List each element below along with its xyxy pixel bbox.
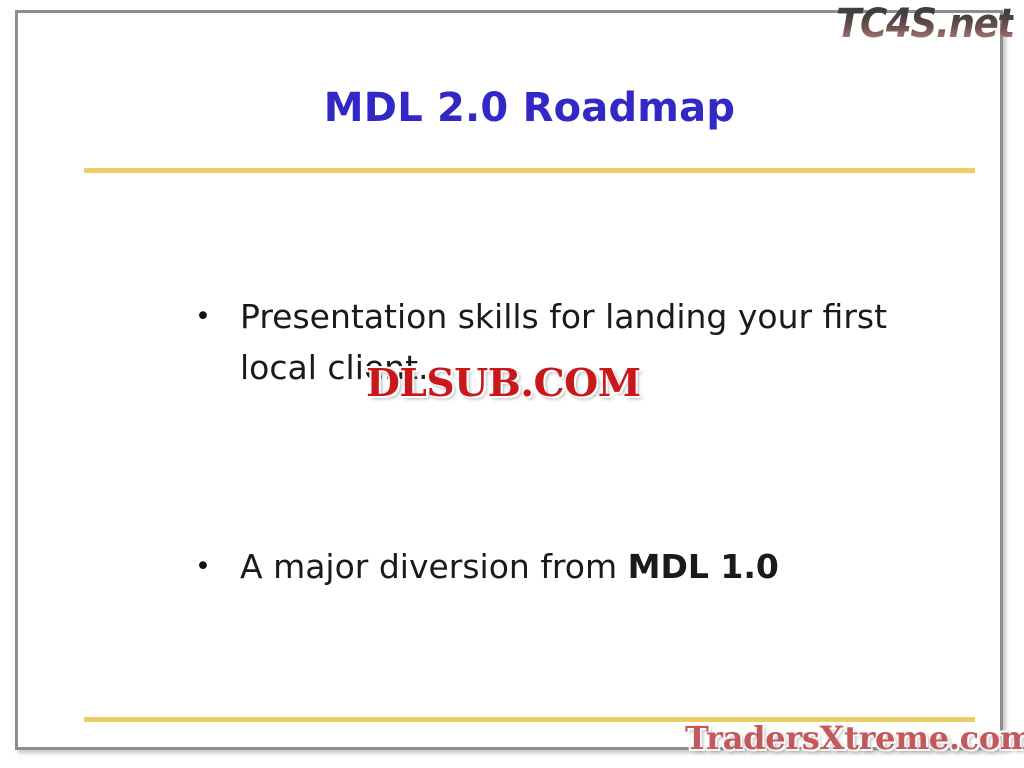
page-title: MDL 2.0 Roadmap (84, 79, 975, 137)
slide-root: MDL 2.0 Roadmap • Presentation skills fo… (0, 0, 1024, 768)
bullet-dot-icon: • (195, 541, 211, 592)
bullet-dot-icon: • (195, 291, 211, 342)
watermark-tradersxtreme: TradersXtreme.com (685, 718, 1024, 758)
slide-body: • Presentation skills for landing your f… (188, 291, 958, 592)
watermark-dlsub: DLSUB.COM (366, 362, 641, 404)
divider-top (84, 168, 975, 173)
list-item: • A major diversion from MDL 1.0 (188, 541, 958, 592)
watermark-tc4s: TC4S.net (836, 2, 1014, 46)
list-item-text-emphasis: MDL 1.0 (628, 547, 779, 586)
list-item-text: A major diversion from (240, 547, 628, 586)
slide-title-area: MDL 2.0 Roadmap (84, 79, 975, 141)
